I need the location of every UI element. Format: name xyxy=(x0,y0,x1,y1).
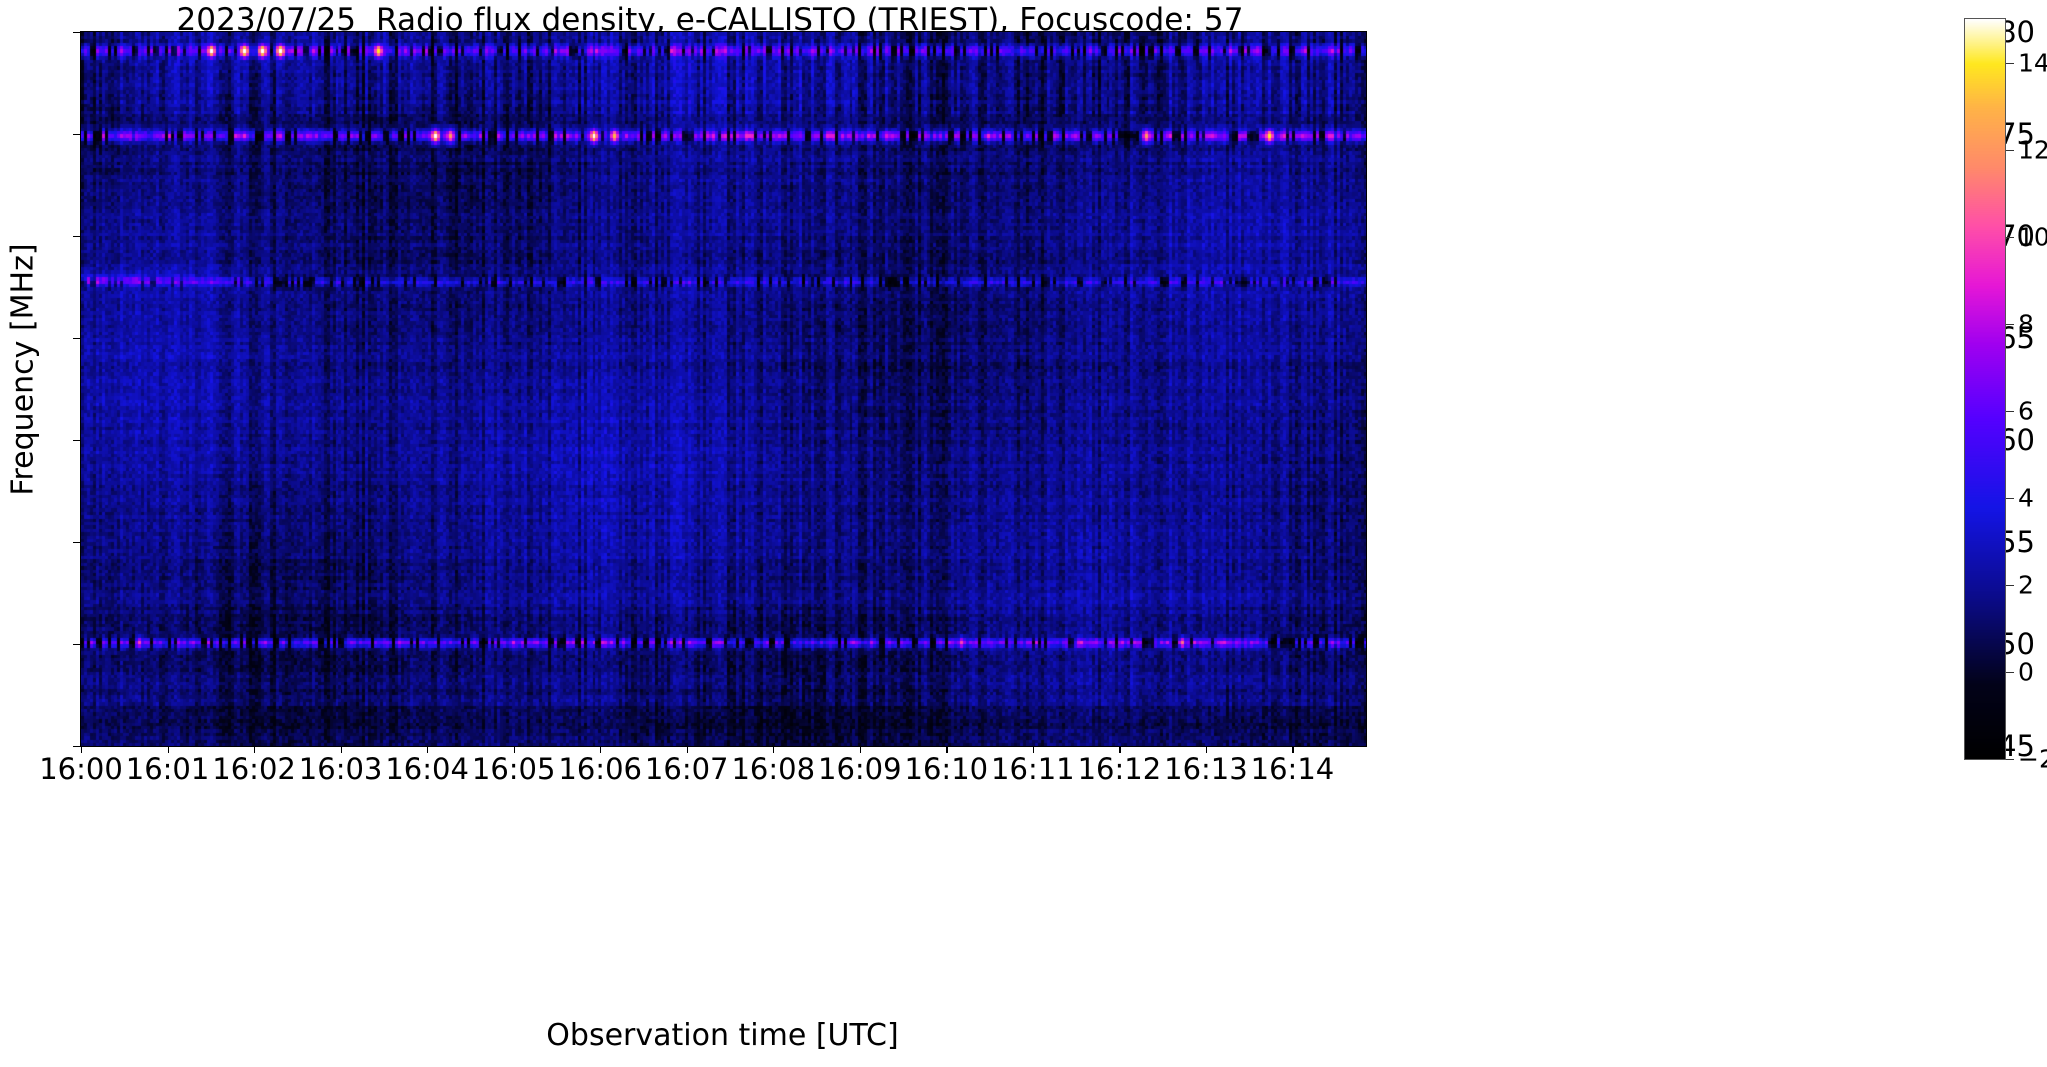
spectrogram-axes[interactable] xyxy=(80,31,1367,747)
colorbar-tick-label: 2 xyxy=(2018,570,2034,599)
x-tick-mark xyxy=(168,746,169,753)
colorbar-tick-mark xyxy=(2006,498,2014,499)
spectrogram-image xyxy=(81,32,1366,746)
y-tick-mark xyxy=(73,32,80,33)
x-tick-label: 16:04 xyxy=(385,752,469,786)
colorbar-tick-label: 12 xyxy=(2018,135,2047,164)
y-axis: Frequency [MHz] xyxy=(0,0,80,1067)
x-tick-label: 16:07 xyxy=(645,752,729,786)
x-tick-mark xyxy=(514,746,515,753)
colorbar-tick-mark xyxy=(2006,759,2014,760)
y-tick-mark xyxy=(73,644,80,645)
colorbar-tick-mark xyxy=(2006,150,2014,151)
x-tick-label: 16:09 xyxy=(818,752,902,786)
x-tick-label: 16:13 xyxy=(1164,752,1248,786)
x-tick-label: 16:14 xyxy=(1251,752,1335,786)
y-tick-mark xyxy=(73,134,80,135)
colorbar-tick-label: 6 xyxy=(2018,396,2034,425)
x-tick-mark xyxy=(773,746,774,753)
y-tick-mark xyxy=(73,338,80,339)
x-tick-mark xyxy=(860,746,861,753)
y-tick-mark xyxy=(73,746,80,747)
colorbar-tick-mark xyxy=(2006,411,2014,412)
colorbar-tick-mark xyxy=(2006,672,2014,673)
x-tick-mark xyxy=(427,746,428,753)
x-tick-label: 16:00 xyxy=(39,752,123,786)
colorbar-tick-label: 8 xyxy=(2018,309,2034,338)
x-tick-mark xyxy=(1292,746,1293,753)
colorbar-tick-mark xyxy=(2006,324,2014,325)
y-axis-label: Frequency [MHz] xyxy=(6,110,41,630)
x-tick-label: 16:10 xyxy=(905,752,989,786)
spectrogram-figure: 2023/07/25 Radio flux density, e-CALLIST… xyxy=(0,0,2047,1067)
x-tick-label: 16:08 xyxy=(731,752,815,786)
x-tick-label: 16:03 xyxy=(299,752,383,786)
x-tick-mark xyxy=(946,746,947,753)
x-tick-label: 16:05 xyxy=(472,752,556,786)
y-tick-mark xyxy=(73,236,80,237)
colorbar-tick-label: 4 xyxy=(2018,483,2034,512)
x-tick-label: 16:12 xyxy=(1078,752,1162,786)
colorbar-tick-label: −2 xyxy=(2018,745,2047,774)
colorbar-tick-mark xyxy=(2006,63,2014,64)
x-tick-mark xyxy=(687,746,688,753)
colorbar-tick-label: 10 xyxy=(2018,222,2047,251)
x-axis-label: Observation time [UTC] xyxy=(80,1018,1365,1053)
x-tick-label: 16:11 xyxy=(991,752,1075,786)
colorbar-tick-mark xyxy=(2006,237,2014,238)
x-tick-mark xyxy=(1119,746,1120,753)
colorbar-tick-label: 0 xyxy=(2018,657,2034,686)
x-tick-mark xyxy=(81,746,82,753)
colorbar-tick-mark xyxy=(2006,585,2014,586)
x-tick-mark xyxy=(600,746,601,753)
x-tick-mark xyxy=(341,746,342,753)
x-tick-mark xyxy=(1206,746,1207,753)
x-tick-mark xyxy=(254,746,255,753)
colorbar-gradient xyxy=(1965,19,2005,759)
colorbar[interactable] xyxy=(1964,18,2006,760)
y-tick-mark xyxy=(73,542,80,543)
y-tick-mark xyxy=(73,440,80,441)
x-tick-label: 16:06 xyxy=(558,752,642,786)
x-tick-label: 16:02 xyxy=(212,752,296,786)
colorbar-tick-label: 14 xyxy=(2018,48,2047,77)
x-tick-label: 16:01 xyxy=(126,752,210,786)
x-tick-mark xyxy=(1033,746,1034,753)
